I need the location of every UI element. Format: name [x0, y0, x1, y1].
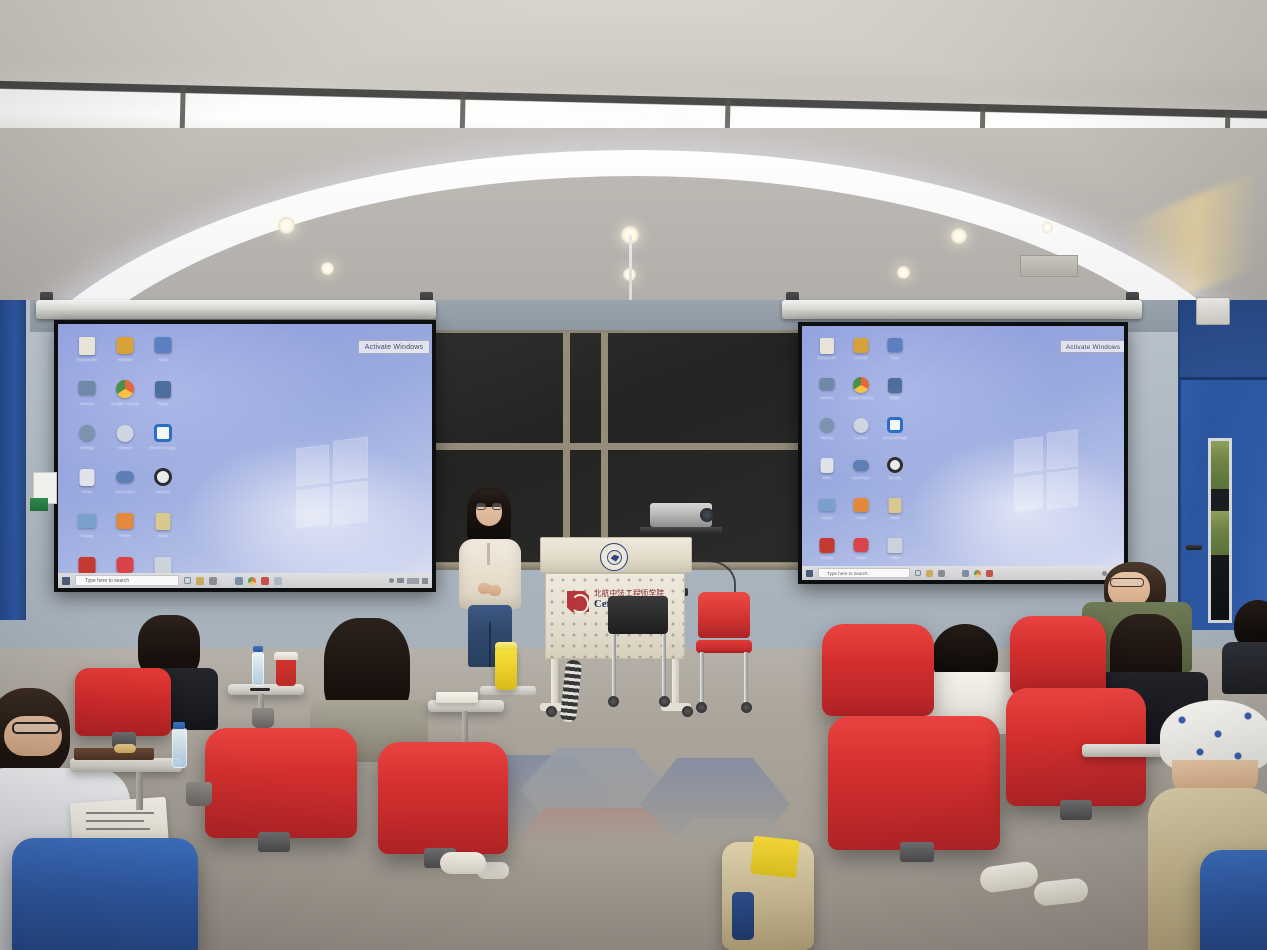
chair-leg [612, 634, 616, 698]
spotlight-icon [1042, 222, 1053, 233]
task-view-icon[interactable] [915, 570, 921, 576]
bottle-cap [253, 646, 263, 652]
windows-logo-icon [1014, 432, 1078, 514]
eyeglasses-icon [1110, 578, 1144, 587]
desktop-icon-printer[interactable]: Printer [844, 495, 878, 535]
desktop-icon-display[interactable]: Display [68, 510, 106, 554]
desktop-icon-settings[interactable]: Settings [68, 422, 106, 466]
podium-leg [551, 659, 558, 705]
eyeglasses-icon [476, 503, 502, 510]
window-divider [1211, 489, 1229, 511]
snack-item [114, 744, 136, 753]
desktop-icon-recycle-bin[interactable]: Recycle Bin [68, 334, 106, 378]
spotlight-icon [321, 262, 334, 275]
ceiling-vent [1020, 255, 1078, 277]
chair-red[interactable] [1010, 616, 1106, 696]
desktop-icon-camera[interactable]: Camera [844, 415, 878, 455]
wall-speaker [1196, 297, 1230, 325]
student-shoe [440, 852, 486, 874]
store-icon[interactable] [209, 577, 217, 585]
start-button-icon[interactable] [806, 570, 813, 577]
presenter-hand [488, 585, 501, 596]
water-bottle [252, 652, 264, 686]
chair-red[interactable] [205, 728, 357, 838]
desktop-icon-notes[interactable]: Notes [878, 495, 912, 535]
windows-logo-icon [296, 440, 368, 531]
chair-behind-podium[interactable] [608, 596, 668, 634]
eyeglasses-icon [12, 722, 60, 734]
chair-red[interactable] [828, 716, 1000, 850]
caster-wheel [741, 702, 752, 713]
bottle-in-backpack [732, 892, 754, 940]
right-projection-screen[interactable]: Activate Windows Recycle Bin WeChat Tool… [798, 322, 1128, 584]
jeans-seam [489, 622, 491, 667]
spotlight-icon [897, 266, 910, 279]
sweater-zipper [487, 543, 490, 565]
chair-leg [744, 652, 748, 704]
activate-windows-watermark: Activate Windows [1060, 340, 1126, 353]
pdf-icon[interactable] [261, 577, 269, 585]
desktop-icon-folder[interactable]: Tools [878, 335, 912, 375]
chair-base [900, 842, 934, 862]
caster-wheel [546, 706, 557, 717]
desktop-icon-chrome[interactable]: Google Chrome [844, 375, 878, 415]
desktop-icon-chrome[interactable]: Google Chrome [106, 378, 144, 422]
desktop-icon-antivirus[interactable]: Security [144, 466, 182, 510]
projector-shelf [640, 527, 722, 533]
chair-base [258, 832, 290, 852]
stacking-chair-back[interactable] [698, 592, 750, 638]
bottle-cap [173, 722, 185, 729]
yellow-tumbler [495, 648, 517, 690]
desktop-icon-settings[interactable]: Settings [810, 415, 844, 455]
door-vision-panel [1208, 438, 1232, 623]
task-view-icon[interactable] [184, 577, 191, 584]
taskbar[interactable]: Type here to search [58, 573, 432, 588]
desktop-icon-cloud[interactable]: Cloud Sync [844, 455, 878, 495]
podium-leg [672, 659, 679, 705]
desktop-icon-network[interactable]: Network [68, 378, 106, 422]
caster-wheel [696, 702, 707, 713]
left-screen-roller[interactable] [36, 300, 436, 319]
desktop-icon-display[interactable]: Display [810, 495, 844, 535]
taskbar[interactable]: Type here to search [802, 566, 1124, 580]
chair-leg [700, 652, 704, 704]
under-desk-basket [186, 782, 212, 806]
store-icon[interactable] [938, 570, 945, 577]
desktop-icon-media-player[interactable]: Player [144, 378, 182, 422]
chair-red[interactable] [75, 668, 171, 736]
chrome-icon[interactable] [248, 577, 256, 585]
camera-icon[interactable] [962, 570, 969, 577]
desktop-icon-antivirus[interactable]: Security [878, 455, 912, 495]
chair-blue[interactable] [1200, 850, 1267, 950]
centrale-pekin-mark-icon [566, 590, 591, 613]
projector-lens-icon [700, 508, 714, 522]
window-glass-lower [1211, 511, 1229, 555]
coffee-cup-lid [274, 652, 298, 660]
window-glass-dark [1211, 555, 1229, 620]
right-screen-roller[interactable] [782, 300, 1142, 319]
door-left[interactable] [0, 300, 26, 620]
desk-post [462, 711, 468, 745]
paper-text-line [86, 812, 154, 814]
tumbler-lid [495, 642, 517, 650]
camera-icon[interactable] [235, 577, 243, 585]
desktop-icon-camera[interactable]: Camera [106, 422, 144, 466]
emergency-light-icon [30, 498, 48, 511]
tablet-desk [1082, 744, 1166, 757]
pdf-icon[interactable] [986, 570, 993, 577]
desktop-icon-media-player[interactable]: Player [878, 375, 912, 415]
university-seal [600, 543, 628, 571]
spotlight-icon [278, 217, 295, 234]
desktop-icon-wechat[interactable]: WeChat [844, 335, 878, 375]
yellow-folder [750, 836, 800, 879]
desktop-icon-network[interactable]: Network [810, 375, 844, 415]
taskbar-search-box[interactable]: Type here to search [75, 575, 179, 586]
desktop-icon-printer[interactable]: Printer [106, 510, 144, 554]
chrome-icon[interactable] [974, 570, 981, 577]
desktop-icon-notes[interactable]: Notes [144, 510, 182, 554]
coffee-cup [276, 658, 296, 686]
chair-blue[interactable] [12, 838, 198, 950]
desktop-icon-recycle-bin[interactable]: Recycle Bin [810, 335, 844, 375]
pen [250, 688, 270, 691]
seal-emblem-icon [607, 550, 622, 565]
presenter-sweater [459, 539, 521, 609]
chair-base [1060, 800, 1092, 820]
lecture-hall-photo: Activate Windows Recycle Bin WeChat Tool… [0, 0, 1267, 950]
notes-icon[interactable] [274, 577, 282, 585]
desktop-icon-edge[interactable]: Microsoft Edge [144, 422, 182, 466]
paper-text-line [86, 820, 144, 822]
notebook [436, 692, 478, 703]
chair-leg [662, 634, 666, 698]
door-handle[interactable] [1186, 545, 1202, 550]
desktop-icon-cloud[interactable]: Cloud Sync [106, 466, 144, 510]
under-desk-basket [252, 708, 274, 728]
start-button-icon[interactable] [62, 577, 70, 585]
taskbar-search-box[interactable]: Type here to search [818, 568, 910, 578]
water-bottle [172, 728, 187, 768]
desktop-icon-disc[interactable]: Drive [810, 455, 844, 495]
mail-icon[interactable] [950, 570, 957, 577]
caster-wheel [659, 696, 670, 707]
desktop-icon-folder[interactable]: Tools [144, 334, 182, 378]
desktop-icon-grid[interactable]: Recycle Bin WeChat Tools Network Google … [810, 335, 912, 575]
left-projection-screen[interactable]: Activate Windows Recycle Bin WeChat Tool… [54, 320, 436, 592]
desktop-icon-wechat[interactable]: WeChat [106, 334, 144, 378]
chair-red[interactable] [822, 624, 934, 716]
caster-wheel [608, 696, 619, 707]
file-explorer-icon[interactable] [926, 570, 933, 577]
desktop-icon-edge[interactable]: Microsoft Edge [878, 415, 912, 455]
spotlight-icon [951, 228, 967, 244]
mail-icon[interactable] [222, 577, 230, 585]
desktop-icon-grid[interactable]: Recycle Bin WeChat Tools Network Google … [68, 334, 182, 592]
desk-post [136, 772, 143, 810]
chair-red[interactable] [378, 742, 508, 854]
tablet-desk [70, 758, 182, 772]
window-glass-upper [1211, 441, 1229, 489]
file-explorer-icon[interactable] [196, 577, 204, 585]
caster-wheel [682, 706, 693, 717]
paper-text-line [86, 828, 150, 830]
desktop-icon-disc[interactable]: Drive [68, 466, 106, 510]
system-tray[interactable] [389, 578, 428, 584]
student-back-right-torso [1222, 642, 1267, 694]
activate-windows-watermark: Activate Windows [358, 340, 430, 354]
